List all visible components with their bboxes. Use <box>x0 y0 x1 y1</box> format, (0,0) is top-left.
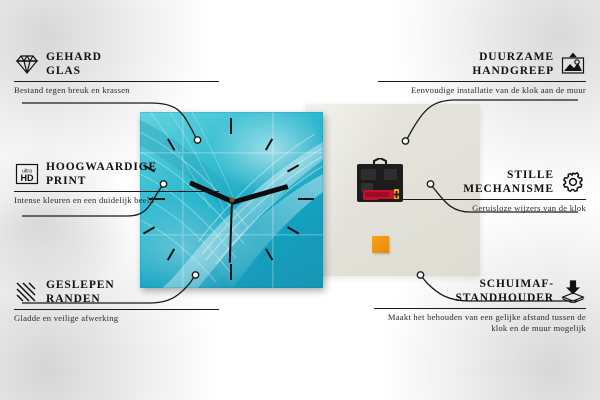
feature-duurzame-handgreep: DUURZAME HANDGREEP Eenvoudige installati… <box>378 50 586 96</box>
clock-tick-3 <box>298 198 314 200</box>
feature-gehard-glas: GEHARD GLAS Bestand tegen breuk en krass… <box>14 50 219 96</box>
feature-title: STILLE MECHANISME <box>463 168 554 196</box>
feature-desc: Maakt het behouden van een gelijke afsta… <box>374 312 586 335</box>
press-down-pad-icon <box>560 279 586 303</box>
feature-rule <box>378 199 586 200</box>
feature-title: GESLEPEN RANDEN <box>46 278 115 306</box>
feature-rule <box>378 81 586 82</box>
feature-geslepen-randen: GESLEPEN RANDEN Gladde en veilige afwerk… <box>14 278 219 324</box>
ultra-hd-icon: ultra HD <box>14 162 40 186</box>
feature-title: GEHARD GLAS <box>46 50 102 78</box>
svg-text:HD: HD <box>21 173 34 183</box>
clock-tick-12 <box>230 118 232 134</box>
feature-title: SCHUIMAF- STANDHOUDER <box>455 277 554 305</box>
feature-desc: Intense kleuren en een duidelijk beeld <box>14 195 219 206</box>
feature-desc: Gladde en veilige afwerking <box>14 313 219 324</box>
feature-schuimafstandhouder: SCHUIMAF- STANDHOUDER Maakt het behouden… <box>374 277 586 335</box>
beveled-lines-icon <box>14 280 40 304</box>
diamond-icon <box>14 52 40 76</box>
clock-hand-pivot <box>229 198 234 203</box>
feature-desc: Bestand tegen breuk en krassen <box>14 85 219 96</box>
foam-spacer-pad <box>372 236 389 253</box>
feature-rule <box>14 81 219 82</box>
feature-hoogwaardige-print: ultra HD HOOGWAARDIGE PRINT Intense kleu… <box>14 160 219 206</box>
feature-rule <box>14 309 219 310</box>
feature-rule <box>14 191 219 192</box>
hanging-picture-icon <box>560 52 586 76</box>
infographic-canvas: GEHARD GLAS Bestand tegen breuk en krass… <box>0 0 600 400</box>
feature-rule <box>374 308 586 309</box>
feature-desc: Eenvoudige installatie van de klok aan d… <box>378 85 586 96</box>
feature-stille-mechanisme: STILLE MECHANISME Geruisloze wijzers van… <box>378 168 586 214</box>
clock-tick-6 <box>230 264 232 280</box>
feature-title: DUURZAME HANDGREEP <box>472 50 554 78</box>
gear-icon <box>560 170 586 194</box>
feature-title: HOOGWAARDIGE PRINT <box>46 160 157 188</box>
feature-desc: Geruisloze wijzers van de klok <box>378 203 586 214</box>
